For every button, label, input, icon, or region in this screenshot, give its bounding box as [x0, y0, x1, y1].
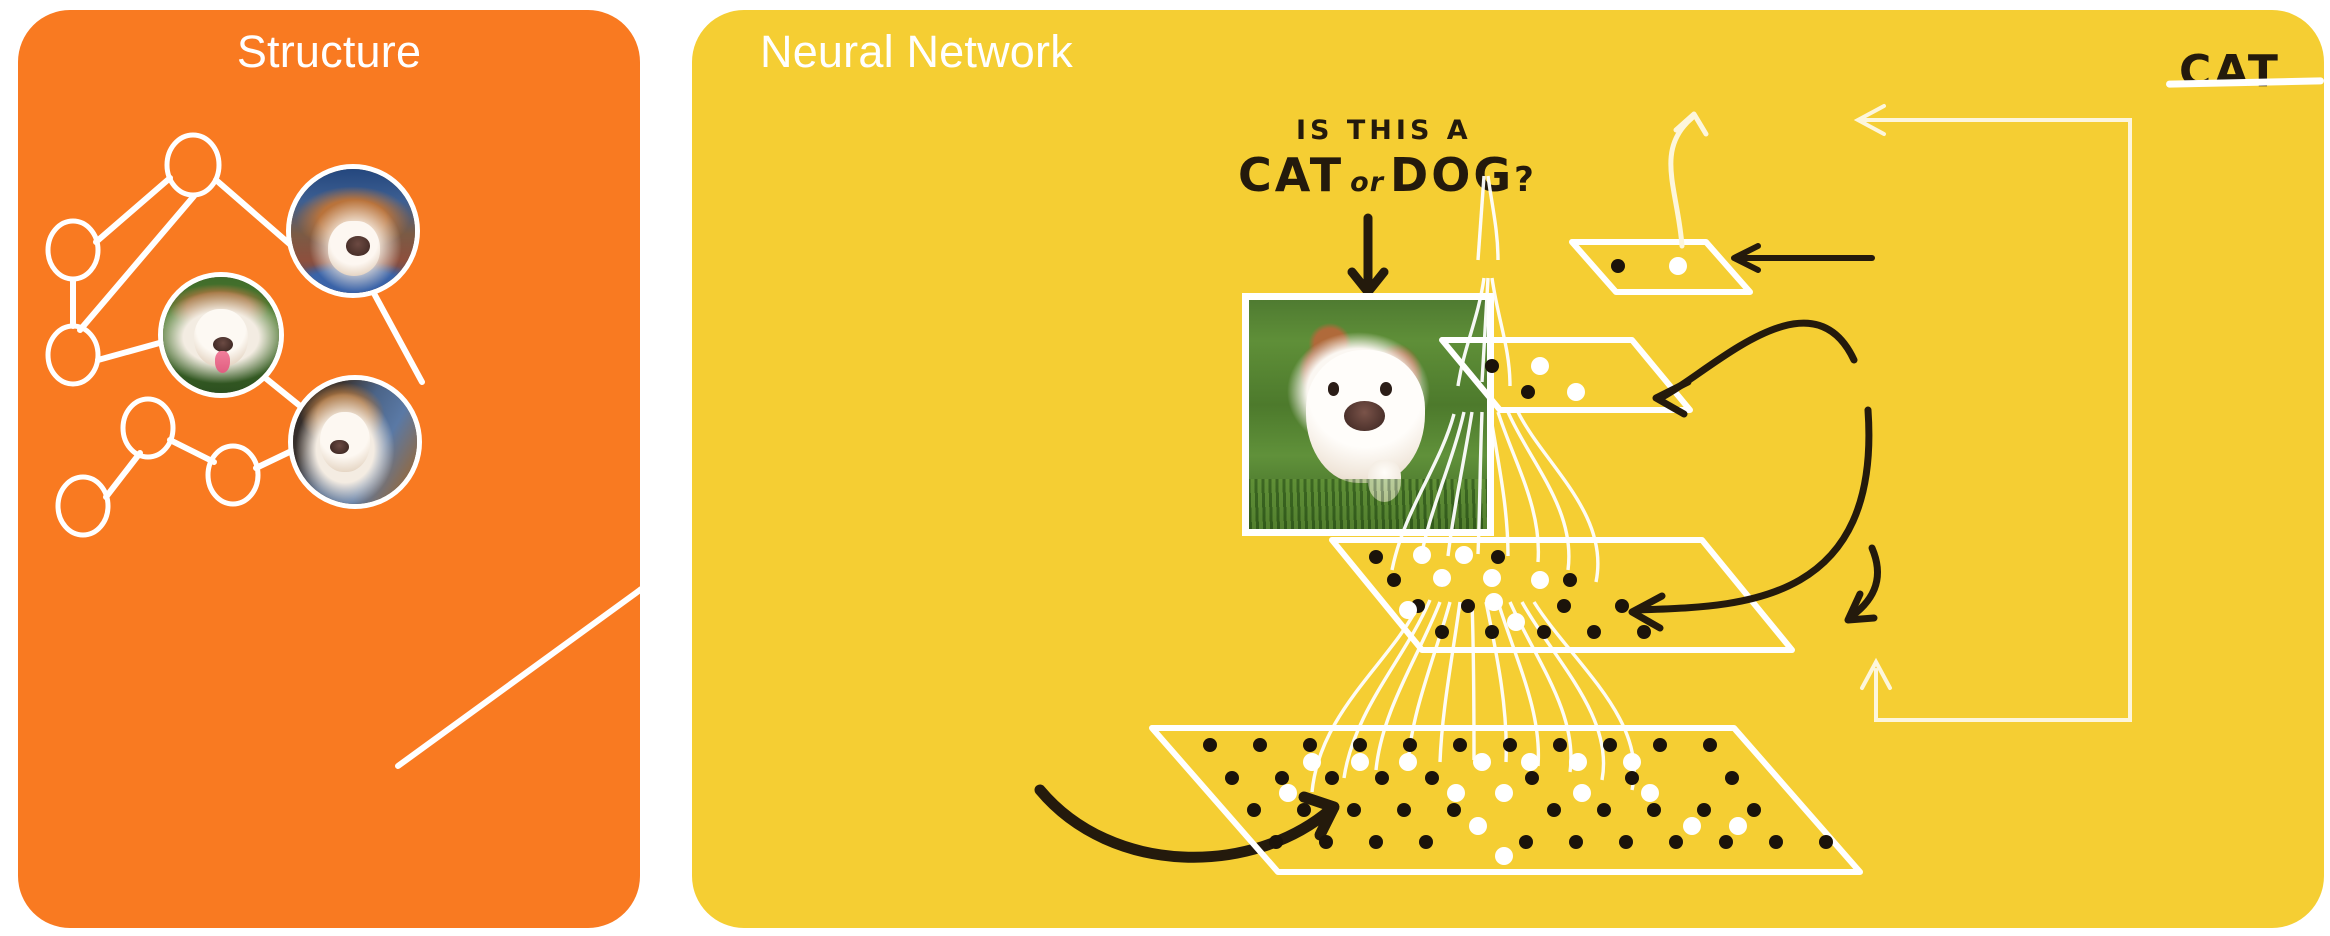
- strand: [1312, 602, 1420, 792]
- hidden-layer-1-plane: [1332, 540, 1792, 650]
- graph-node-photo-bulldog-on-blue-mat: [286, 164, 420, 298]
- hidden-layer-1-outline: [1332, 540, 1792, 650]
- structure-panel-title: Structure: [18, 26, 640, 78]
- dog-snout: [213, 337, 233, 352]
- strand: [1472, 602, 1474, 760]
- strand: [1440, 602, 1460, 762]
- strand: [1510, 602, 1571, 772]
- network-to-dog-arrow: [1671, 114, 1706, 246]
- graph-node-n4: [123, 399, 173, 457]
- feedback-bracket-head-left: [1858, 106, 1884, 134]
- input-layer-plane: [1152, 728, 1860, 872]
- illustration-canvas: Structure: [0, 0, 2330, 936]
- output-layer-outline: [1572, 242, 1750, 292]
- arrow-curve: [1040, 790, 1330, 857]
- input-layer-outline: [1152, 728, 1860, 872]
- question-word-dog: DOG: [1390, 148, 1514, 202]
- activated-callout-arrow-lower: [1638, 410, 1869, 610]
- strand: [1492, 278, 1510, 386]
- edge-p1-p3: [370, 286, 422, 382]
- edge-n3-p2: [98, 342, 163, 360]
- bulldog-on-blue-mat-photo: [291, 169, 415, 293]
- bulldog-puppy-input-photo: [1249, 300, 1487, 529]
- grass-foreground: [1249, 479, 1487, 529]
- strand: [1344, 600, 1430, 778]
- edge-n4-n5: [170, 440, 214, 462]
- graph-node-n2: [48, 221, 98, 279]
- feedback-bracket-head-up: [1862, 662, 1890, 688]
- graph-node-photo-bulldog-puppy-with-person: [288, 375, 422, 509]
- strand: [1518, 412, 1598, 582]
- output-dot-cat: [1611, 259, 1625, 273]
- neural-network-panel: Neural Network IS THIS A CATorDOG?: [692, 10, 2324, 928]
- hidden-layer-2-dots-activated: [1531, 357, 1585, 401]
- arrow-head: [1304, 797, 1334, 835]
- edge-n2-n1: [96, 178, 170, 242]
- question-connector: or: [1344, 167, 1390, 198]
- strand: [1498, 412, 1538, 562]
- activated-callout-arrow-lower-head: [1632, 596, 1662, 628]
- arrow-curve: [1671, 118, 1692, 246]
- feedback-bracket-path: [1864, 120, 2130, 720]
- arrow-head: [1676, 114, 1706, 134]
- input-callout-arrow-head: [1848, 594, 1874, 620]
- output-dot-dog-activated: [1669, 257, 1687, 275]
- callout-arrows: [1632, 246, 1878, 628]
- feedback-loop-bracket: [1858, 106, 2130, 720]
- question-mark: ?: [1514, 160, 1534, 200]
- input-image-frame: [1242, 293, 1494, 536]
- graph-node-n1: [167, 135, 219, 195]
- hidden-layer-1-dots-black: [1369, 550, 1651, 639]
- strand: [1522, 602, 1604, 780]
- dog-snout: [1344, 401, 1384, 431]
- graph-node-n6: [58, 477, 108, 535]
- edge-n6-n4: [106, 453, 140, 497]
- dog-snout: [330, 440, 349, 455]
- dog-eye-right: [1380, 382, 1392, 396]
- bulldog-puppy-with-person-photo: [293, 380, 417, 504]
- graph-node-n3: [48, 326, 98, 384]
- dog-snout: [346, 236, 371, 256]
- dog-tongue: [215, 351, 230, 373]
- structure-panel: Structure: [18, 10, 640, 928]
- output-layer-plane: [1572, 242, 1750, 292]
- neural-network-panel-title: Neural Network: [760, 26, 1073, 78]
- strand: [1498, 602, 1538, 766]
- bulldog-on-grass-photo: [163, 277, 279, 393]
- hidden-layer-1-dots-activated: [1399, 546, 1549, 631]
- arrow-head: [1352, 272, 1384, 292]
- question-line-1: IS THIS A: [1296, 115, 1472, 146]
- verdict-cat-label: CAT: [2179, 46, 2281, 97]
- strand: [1534, 602, 1634, 790]
- input-layer-dots-black: [1203, 738, 1833, 849]
- strand: [1408, 602, 1450, 764]
- strand: [1376, 602, 1440, 770]
- input-callout-arrow: [1852, 548, 1878, 616]
- output-callout-arrow-head: [1734, 246, 1758, 270]
- activated-callout-arrow-upper-head: [1656, 382, 1688, 414]
- connector-line-gap: [640, 556, 688, 590]
- graph-node-n5: [208, 446, 258, 504]
- input-layer-dots-activated: [1279, 753, 1747, 865]
- output-layer-dots: [1611, 257, 1687, 275]
- strand: [1486, 602, 1506, 762]
- graph-node-photo-bulldog-on-grass: [158, 272, 284, 398]
- activated-callout-arrow-upper: [1664, 323, 1854, 396]
- question-word-cat: CAT: [1238, 148, 1344, 202]
- strand: [1508, 412, 1569, 570]
- question-line-2: CATorDOG?: [1238, 148, 1534, 202]
